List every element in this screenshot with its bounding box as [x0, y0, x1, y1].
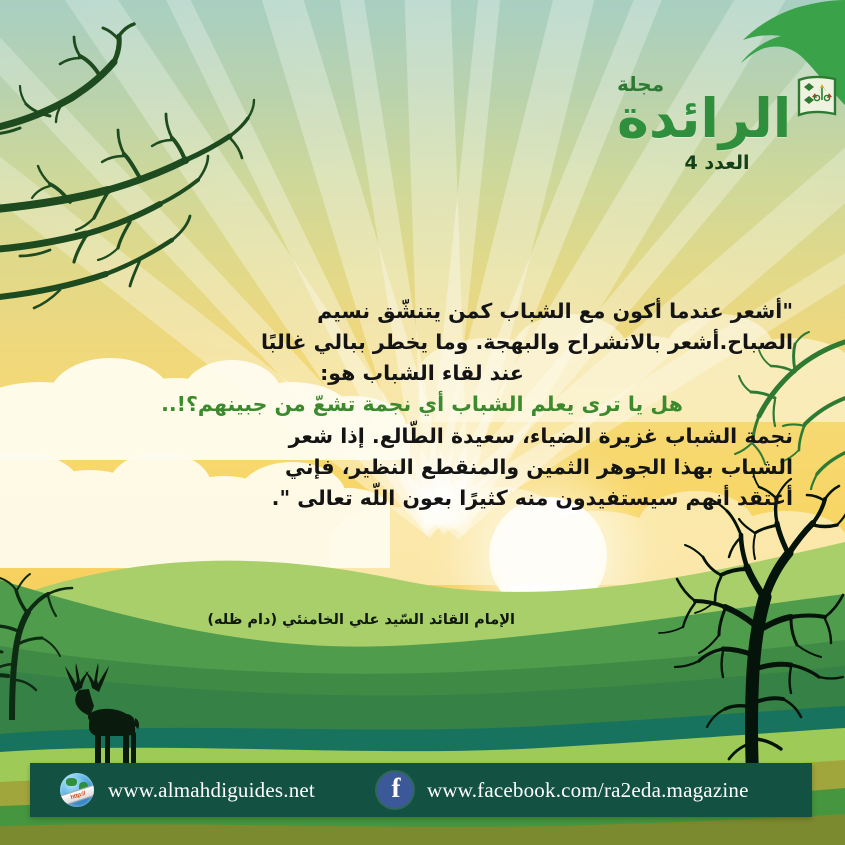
website-link[interactable]: http:// www.almahdiguides.net: [60, 773, 315, 807]
website-url-text: www.almahdiguides.net: [108, 778, 315, 803]
quote-block: "أشعر عندما أكون مع الشباب كمن يتنشّق نس…: [51, 296, 793, 514]
logo-word-title: الرائدة: [617, 94, 791, 144]
facebook-icon: f: [377, 772, 413, 808]
facebook-url-text: www.facebook.com/ra2eda.magazine: [427, 778, 749, 803]
facebook-link[interactable]: f www.facebook.com/ra2eda.magazine: [377, 772, 749, 808]
quote-line-highlight: هل يا ترى يعلم الشباب أي نجمة تشعّ من جب…: [51, 389, 793, 420]
logo-wordmark: مجلة الرائدة: [617, 72, 817, 144]
footer-bar: http:// www.almahdiguides.net f www.face…: [30, 763, 812, 817]
quote-line: الشباب بهذا الجوهر الثمين والمنقطع النظي…: [51, 452, 793, 483]
magazine-logo[interactable]: مجلة الرائدة: [617, 72, 817, 212]
globe-icon: http://: [60, 773, 94, 807]
globe-banner-text: http://: [60, 783, 94, 807]
quote-line: "أشعر عندما أكون مع الشباب كمن يتنشّق نس…: [51, 296, 793, 327]
quote-attribution: الإمام القائد السّيد علي الخامنئي (دام ظ…: [207, 612, 515, 628]
quote-line: عند لقاء الشباب هو:: [51, 358, 793, 389]
quote-line: نجمة الشباب غزيرة الضياء، سعيدة الطّالع.…: [51, 421, 793, 452]
quote-line: الصباح.أشعر بالانشراح والبهجة. وما يخطر …: [51, 327, 793, 358]
bare-tree-top-left: [0, 10, 310, 340]
issue-number: العدد 4: [617, 152, 817, 174]
poster-canvas: مجلة الرائدة: [0, 0, 845, 845]
facebook-glyph: f: [391, 775, 400, 802]
flag-emblem-icon: ····· ·····: [795, 74, 841, 124]
quote-line: أعتقد أنهم سيستفيدون منه كثيرًا بعون الل…: [51, 483, 793, 514]
bare-tree-left-lower: [0, 560, 92, 720]
